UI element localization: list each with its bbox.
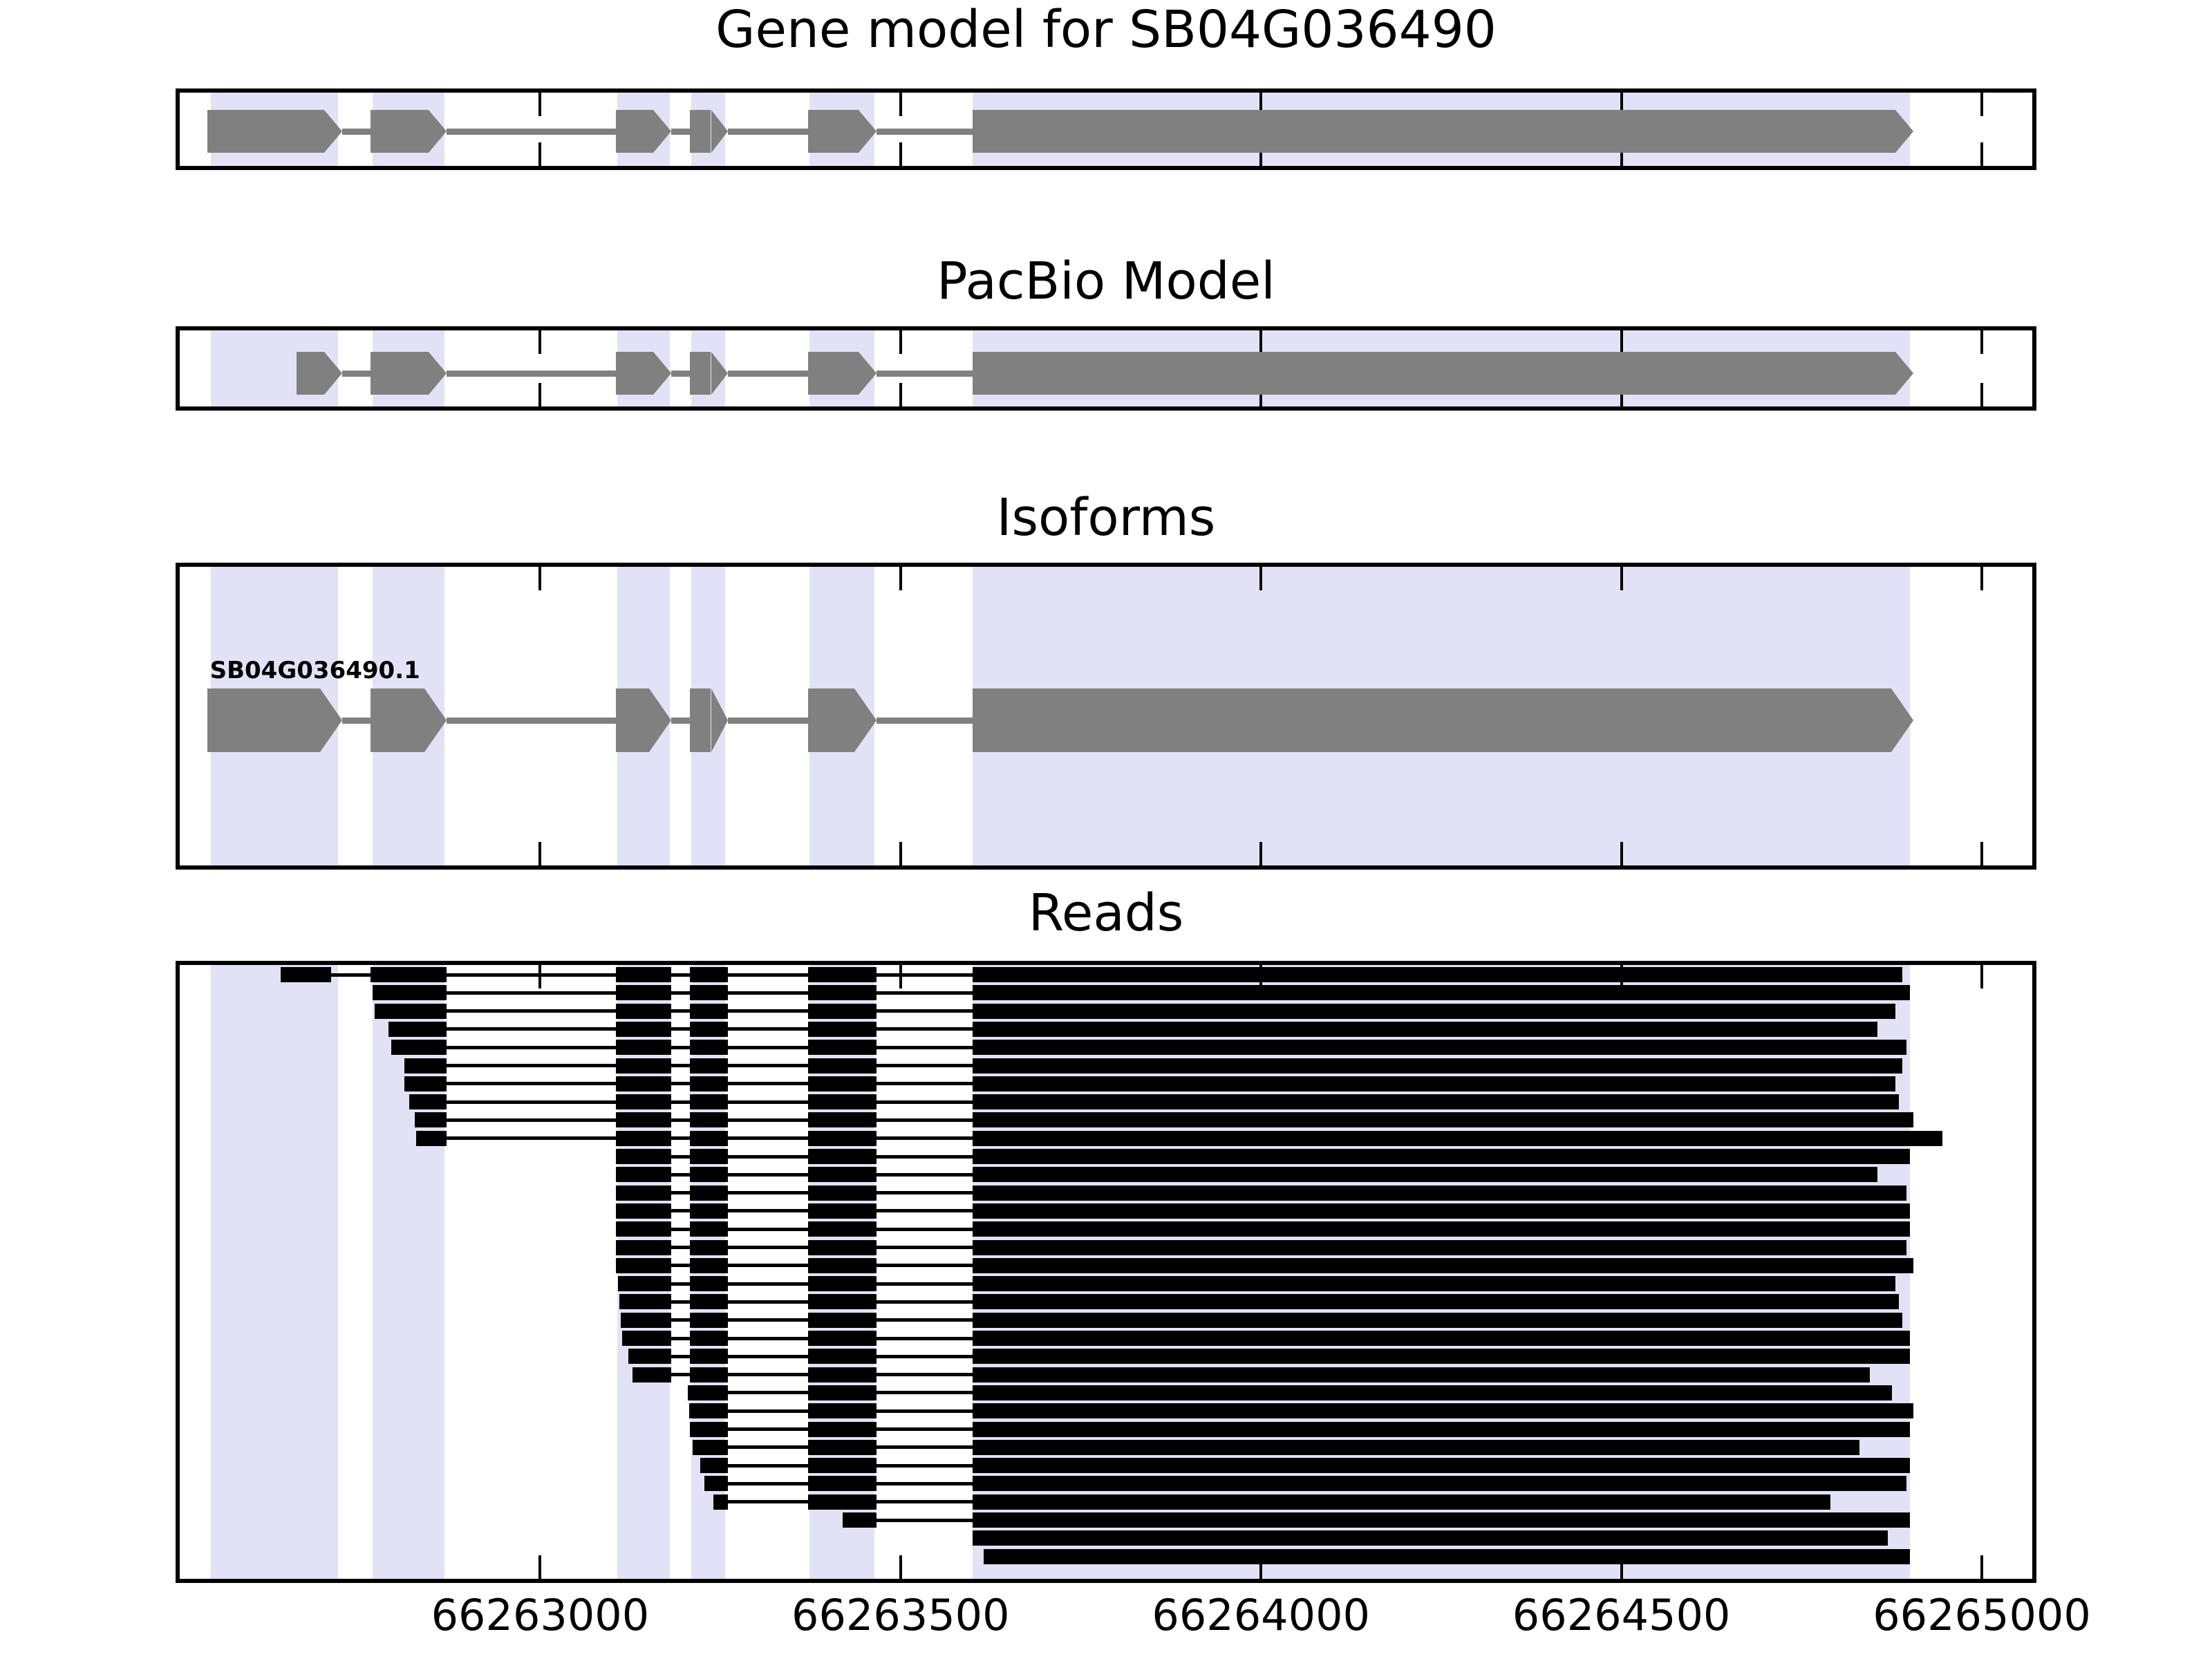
exon-block[interactable] [207,688,342,752]
exon-body [371,110,428,153]
intron-line [447,129,616,135]
axis-tick-label: 66264000 [1152,1590,1370,1640]
axis-tick-mark [899,383,902,406]
panel-isoforms[interactable]: SB04G036490.1 [176,563,2036,870]
read-exon-block[interactable] [808,1131,877,1146]
exon-block[interactable] [808,110,877,153]
read-exon-block[interactable] [616,1094,671,1109]
read-exon-block[interactable] [808,1149,877,1164]
read-exon-block[interactable] [690,1422,727,1437]
read-exon-block[interactable] [690,1313,727,1328]
read-exon-block[interactable] [973,1076,1895,1091]
read-exon-block[interactable] [616,1022,671,1037]
read-exon-block[interactable] [621,1313,671,1328]
read-exon-block[interactable] [973,1476,1906,1491]
read-exon-block[interactable] [973,1004,1895,1019]
exon-body [973,688,1891,752]
read-exon-block[interactable] [690,1149,727,1164]
read-exon-block[interactable] [616,1185,671,1201]
read-exon-block[interactable] [808,1203,877,1219]
read-exon-block[interactable] [808,1440,877,1455]
read-exon-block[interactable] [690,1040,727,1055]
exon-block[interactable] [207,110,342,153]
axis-tick-mark [1620,842,1623,865]
read-exon-block[interactable] [690,1185,727,1201]
read-exon-block[interactable] [391,1040,447,1055]
exon-strand-arrow-icon [711,688,728,752]
read-exon-block[interactable] [690,967,727,982]
read-exon-block[interactable] [690,1221,727,1237]
read-exon-block[interactable] [404,1076,446,1091]
read-exon-block[interactable] [808,1422,877,1437]
exon-block[interactable] [690,110,727,153]
read-exon-block[interactable] [616,1076,671,1091]
read-exon-block[interactable] [373,985,446,1000]
read-exon-block[interactable] [616,967,671,982]
read-exon-block[interactable] [973,1494,1830,1510]
read-exon-block[interactable] [973,985,1910,1000]
exon-strand-arrow-icon [1891,688,1913,752]
read-exon-block[interactable] [808,967,877,982]
exon-body [371,352,428,395]
read-exon-block[interactable] [404,1058,446,1074]
read-exon-block[interactable] [973,1530,1888,1546]
x-axis-tick-labels: 6626300066263500662640006626450066265000 [0,1590,2212,1652]
read-exon-block[interactable] [700,1458,728,1473]
exon-block[interactable] [371,352,446,395]
read-exon-block[interactable] [713,1494,728,1510]
axis-tick-mark [1259,842,1262,865]
read-exon-block[interactable] [808,1367,877,1382]
read-exon-block[interactable] [808,1040,877,1055]
exon-strand-arrow-icon [1895,352,1913,395]
exon-block[interactable] [371,110,446,153]
read-exon-block[interactable] [973,1349,1910,1364]
panel-title-isoforms: Isoforms [0,492,2212,543]
read-exon-block[interactable] [808,1313,877,1328]
read-exon-block[interactable] [973,1058,1902,1074]
intron-line [728,129,809,135]
read-exon-block[interactable] [973,1294,1899,1309]
intron-line [877,371,973,377]
exon-block[interactable] [808,352,877,395]
read-exon-block[interactable] [619,1294,671,1309]
read-exon-block[interactable] [808,1458,877,1473]
axis-tick-mark [538,965,541,988]
read-exon-block[interactable] [690,1167,727,1182]
read-exon-block[interactable] [973,1331,1910,1346]
exon-strand-arrow-icon [649,688,671,752]
read-exon-block[interactable] [808,1058,877,1074]
read-exon-block[interactable] [388,1022,446,1037]
axis-tick-mark [1980,1555,1983,1579]
intron-line [671,129,690,135]
intron-line [671,371,690,377]
exon-strand-arrow-icon [859,110,877,153]
axis-tick-label: 66263000 [431,1590,650,1640]
read-exon-block[interactable] [690,1131,727,1146]
read-exon-block[interactable] [973,1240,1906,1255]
read-exon-block[interactable] [808,1494,877,1510]
exon-block[interactable] [690,688,727,752]
read-exon-block[interactable] [622,1331,671,1346]
read-exon-block[interactable] [808,1258,877,1273]
axis-tick-mark [1980,965,1983,988]
read-exon-block[interactable] [808,1476,877,1491]
exon-strand-arrow-icon [324,352,342,395]
axis-tick-mark [899,93,902,116]
read-exon-block[interactable] [973,1385,1892,1400]
exon-body [297,352,324,395]
read-exon-block[interactable] [808,1112,877,1127]
read-exon-block[interactable] [693,1440,727,1455]
exon-block[interactable] [616,688,671,752]
panel-title-pacbio-model: PacBio Model [0,256,2212,307]
axis-tick-mark [1980,142,1983,166]
figure-canvas: Gene model for SB04G036490 PacBio Model … [0,0,2212,1659]
read-exon-block[interactable] [808,1185,877,1201]
read-exon-block[interactable] [808,1294,877,1309]
intron-line [447,371,616,377]
read-exon-block[interactable] [616,1004,671,1019]
read-exon-block[interactable] [973,1258,1913,1273]
axis-tick-mark [1980,93,1983,116]
read-exon-block[interactable] [973,967,1902,982]
read-exon-block[interactable] [808,1022,877,1037]
read-exon-block[interactable] [616,985,671,1000]
read-exon-block[interactable] [688,1385,727,1400]
read-exon-block[interactable] [618,1276,671,1291]
read-exon-block[interactable] [690,1294,727,1309]
exon-strand-arrow-icon [653,352,671,395]
read-exon-block[interactable] [808,1076,877,1091]
axis-tick-mark [538,1555,541,1579]
read-exon-block[interactable] [808,985,877,1000]
read-exon-block[interactable] [616,1040,671,1055]
read-exon-block[interactable] [973,1203,1910,1219]
exon-strand-arrow-icon [711,110,728,153]
exon-strand-arrow-icon [429,352,447,395]
exon-block[interactable] [808,688,877,752]
read-exon-block[interactable] [690,1112,727,1127]
read-exon-block[interactable] [973,1458,1910,1473]
read-exon-block[interactable] [973,1440,1859,1455]
exon-block[interactable] [690,352,727,395]
exon-strand-arrow-icon [320,688,342,752]
intron-line [671,718,690,724]
read-exon-block[interactable] [973,1276,1895,1291]
read-exon-block[interactable] [973,1422,1910,1437]
exon-block[interactable] [616,352,671,395]
read-exon-block[interactable] [973,1149,1910,1164]
read-exon-block[interactable] [984,1549,1910,1564]
read-exon-block[interactable] [808,1004,877,1019]
read-exon-block[interactable] [616,1131,671,1146]
read-exon-block[interactable] [973,1185,1906,1201]
read-exon-block[interactable] [973,1040,1906,1055]
intron-line [342,129,371,135]
exon-body [207,110,324,153]
intron-line [728,371,809,377]
read-exon-block[interactable] [808,1331,877,1346]
intron-line [877,129,973,135]
exon-block[interactable] [973,688,1913,752]
read-exon-block[interactable] [690,1331,727,1346]
read-exon-block[interactable] [281,967,331,982]
intron-line [877,718,973,724]
intron-line [342,718,371,724]
exon-block[interactable] [371,688,446,752]
exon-body [616,352,653,395]
panel-gene-model[interactable] [176,88,2036,170]
exon-body [207,688,320,752]
exon-body [973,110,1895,153]
read-exon-block[interactable] [808,1094,877,1109]
exon-strand-arrow-icon [711,352,728,395]
read-exon-block[interactable] [628,1349,672,1364]
exon-block[interactable] [973,110,1913,153]
read-exon-block[interactable] [973,1313,1902,1328]
axis-tick-mark [1980,842,1983,865]
read-exon-block[interactable] [973,1221,1910,1237]
axis-tick-mark [899,965,902,988]
intron-line [447,718,616,724]
exon-strand-arrow-icon [1895,110,1913,153]
exon-highlight-band [211,965,339,1579]
axis-tick-mark [538,330,541,354]
panel-pacbio-model[interactable] [176,326,2036,411]
panel-title-reads: Reads [0,888,2212,939]
axis-tick-mark [899,330,902,354]
read-exon-block[interactable] [808,1385,877,1400]
read-exon-block[interactable] [616,1058,671,1074]
axis-tick-mark [1259,330,1262,354]
exon-strand-arrow-icon [859,352,877,395]
axis-tick-mark [1620,567,1623,590]
read-exon-block[interactable] [616,1221,671,1237]
read-exon-block[interactable] [690,1004,727,1019]
read-exon-block[interactable] [808,1403,877,1418]
axis-tick-mark [1980,383,1983,406]
axis-tick-mark [538,567,541,590]
axis-tick-mark [899,1555,902,1579]
read-exon-block[interactable] [690,1367,727,1382]
panel-reads[interactable] [176,961,2036,1583]
read-exon-block[interactable] [690,1276,727,1291]
read-exon-block[interactable] [616,1258,671,1273]
axis-tick-mark [1980,567,1983,590]
read-exon-block[interactable] [973,1094,1899,1109]
axis-tick-label: 66264500 [1512,1590,1731,1640]
read-exon-block[interactable] [409,1094,447,1109]
exon-block[interactable] [973,352,1913,395]
exon-strand-arrow-icon [653,110,671,153]
panel-title-gene-model: Gene model for SB04G036490 [0,4,2212,55]
isoform-label: SB04G036490.1 [210,657,420,684]
exon-strand-arrow-icon [429,110,447,153]
axis-tick-mark [899,567,902,590]
read-exon-block[interactable] [690,1258,727,1273]
axis-tick-mark [1620,330,1623,354]
exon-body [808,110,859,153]
exon-body [616,688,649,752]
axis-tick-mark [1259,567,1262,590]
exon-block[interactable] [616,110,671,153]
read-exon-block[interactable] [415,1112,447,1127]
read-exon-block[interactable] [973,1512,1910,1528]
exon-body [690,110,711,153]
read-exon-block[interactable] [973,1167,1877,1182]
read-exon-block[interactable] [973,1131,1942,1146]
read-exon-block[interactable] [690,1240,727,1255]
read-exon-block[interactable] [689,1403,727,1418]
exon-strand-arrow-icon [324,110,342,153]
read-exon-block[interactable] [690,1076,727,1091]
read-exon-block[interactable] [616,1203,671,1219]
exon-strand-arrow-icon [424,688,447,752]
exon-body [690,352,711,395]
read-exon-block[interactable] [690,1022,727,1037]
read-exon-block[interactable] [616,1112,671,1127]
read-exon-block[interactable] [808,1349,877,1364]
axis-tick-label: 66265000 [1873,1590,2091,1640]
read-exon-block[interactable] [616,1149,671,1164]
read-exon-block[interactable] [808,1240,877,1255]
read-exon-block[interactable] [704,1476,727,1491]
read-exon-block[interactable] [690,1058,727,1074]
read-exon-block[interactable] [375,1004,447,1019]
read-exon-block[interactable] [808,1167,877,1182]
exon-body [616,110,653,153]
axis-tick-label: 66263500 [791,1590,1010,1640]
exon-body [371,688,424,752]
axis-tick-mark [1980,330,1983,354]
axis-tick-mark [899,142,902,166]
read-exon-block[interactable] [843,1512,877,1528]
intron-line [342,371,371,377]
axis-tick-mark [538,842,541,865]
exon-body [973,352,1895,395]
read-exon-block[interactable] [616,1167,671,1182]
read-exon-block[interactable] [690,1203,727,1219]
read-exon-block[interactable] [690,1349,727,1364]
read-exon-block[interactable] [973,1403,1913,1418]
intron-line [728,718,809,724]
read-exon-block[interactable] [973,1112,1913,1127]
read-exon-block[interactable] [690,1094,727,1109]
exon-block[interactable] [297,352,342,395]
exon-strand-arrow-icon [854,688,877,752]
read-exon-block[interactable] [973,1367,1870,1382]
axis-tick-mark [538,383,541,406]
read-exon-block[interactable] [632,1367,671,1382]
exon-body [808,688,854,752]
read-exon-block[interactable] [690,985,727,1000]
axis-tick-mark [538,142,541,166]
read-exon-block[interactable] [371,967,446,982]
exon-highlight-band [373,965,444,1579]
read-exon-block[interactable] [808,1276,877,1291]
exon-body [690,688,711,752]
read-exon-block[interactable] [973,1022,1877,1037]
read-exon-block[interactable] [416,1131,447,1146]
exon-body [808,352,859,395]
axis-tick-mark [899,842,902,865]
read-exon-block[interactable] [808,1221,877,1237]
read-exon-block[interactable] [616,1240,671,1255]
axis-tick-mark [538,93,541,116]
